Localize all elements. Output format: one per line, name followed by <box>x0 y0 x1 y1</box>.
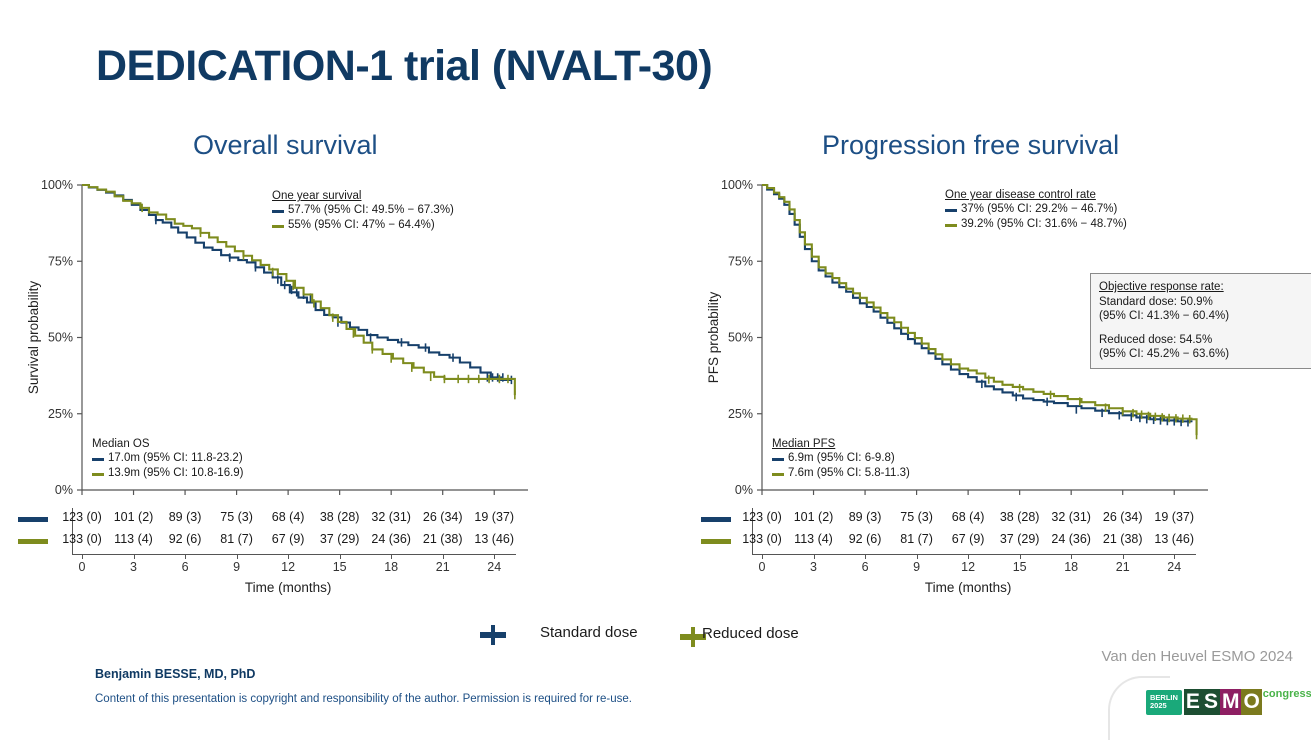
risk-table-cell: 92 (6) <box>849 532 882 546</box>
x-axis-tick-label: 6 <box>862 560 869 574</box>
x-axis-tick <box>968 555 969 559</box>
pfs-median-title: Median PFS <box>772 438 910 450</box>
risk-table-cell: 67 (9) <box>952 532 985 546</box>
esmo-letter-s: S <box>1202 689 1220 715</box>
x-axis-tick <box>1020 555 1021 559</box>
pfs-median-line-reduced: 7.6m (95% CI: 5.8-11.3) <box>772 466 910 481</box>
x-axis-tick-label: 18 <box>1064 560 1078 574</box>
legend-mark-standard-dose <box>480 632 506 638</box>
risk-table-cell: 68 (4) <box>272 510 305 524</box>
os-median-title: Median OS <box>92 438 244 450</box>
os-median-line-standard: 17.0m (95% CI: 11.8-23.2) <box>92 451 244 466</box>
x-axis-tick <box>917 555 918 559</box>
reduced-dose-dash-icon <box>772 473 784 476</box>
berlin-2025-badge: BERLIN 2025 <box>1146 690 1182 715</box>
risk-table-cell: 26 (34) <box>423 510 463 524</box>
risk-table-cell: 24 (36) <box>371 532 411 546</box>
x-axis-tick <box>237 555 238 559</box>
esmo-letter-o: O <box>1241 689 1261 715</box>
risk-table-cell: 81 (7) <box>900 532 933 546</box>
x-axis-tick <box>814 555 815 559</box>
risk-table-cell: 67 (9) <box>272 532 305 546</box>
svg-text:100%: 100% <box>721 178 753 192</box>
legend-label-reduced-dose: Reduced dose <box>702 625 799 642</box>
esmo-wordmark: E S M O <box>1184 689 1262 715</box>
svg-text:25%: 25% <box>48 407 73 421</box>
x-axis-tick-label: 15 <box>1013 560 1027 574</box>
svg-text:100%: 100% <box>41 178 73 192</box>
standard-dose-dash-icon <box>945 209 957 212</box>
x-axis-tick-label: 21 <box>436 560 450 574</box>
source-credit: Van den Heuvel ESMO 2024 <box>1101 648 1293 665</box>
slide-canvas: DEDICATION-1 trial (NVALT-30) Overall su… <box>0 0 1311 738</box>
pfs-dcr-annotation: One year disease control rate 37% (95% C… <box>945 189 1127 231</box>
risk-table-cell: 113 (4) <box>794 532 833 546</box>
risk-table-cell: 133 (0) <box>62 532 102 546</box>
page-title: DEDICATION-1 trial (NVALT-30) <box>96 42 712 91</box>
risk-table-cell: 89 (3) <box>849 510 882 524</box>
orr-spacer <box>1099 324 1311 333</box>
pfs-risk-table: 123 (0)101 (2)89 (3)75 (3)68 (4)38 (28)3… <box>753 510 1173 570</box>
svg-text:75%: 75% <box>48 254 73 268</box>
risk-table-cell: 37 (29) <box>1000 532 1040 546</box>
orr-standard-ci: (95% CI: 41.3% − 60.4%) <box>1099 309 1311 324</box>
x-axis-title: Time (months) <box>925 580 1012 595</box>
svg-text:75%: 75% <box>728 254 753 268</box>
x-axis-tick-label: 3 <box>130 560 137 574</box>
x-axis-tick <box>865 555 866 559</box>
pfs-annotation-line-standard: 37% (95% CI: 29.2% − 46.7%) <box>945 202 1127 217</box>
x-axis-tick-label: 21 <box>1116 560 1130 574</box>
x-axis-tick-label: 0 <box>759 560 766 574</box>
risk-table-cell: 13 (46) <box>474 532 514 546</box>
risk-table-cell: 101 (2) <box>114 510 154 524</box>
standard-dose-dash-icon <box>92 458 104 461</box>
risk-table-row: 133 (0)113 (4)92 (6)81 (7)67 (9)37 (29)2… <box>753 532 1173 552</box>
risk-table-bottom-axis <box>752 554 1196 555</box>
svg-text:PFS probability: PFS probability <box>706 291 721 383</box>
x-axis-tick <box>443 555 444 559</box>
svg-text:Survival probability: Survival probability <box>26 281 41 395</box>
pfs-median-annotation: Median PFS 6.9m (95% CI: 6-9.8) 7.6m (95… <box>772 438 910 480</box>
risk-table-cell: 113 (4) <box>114 532 153 546</box>
x-axis-tick <box>340 555 341 559</box>
x-axis-tick <box>1123 555 1124 559</box>
risk-table-row: 123 (0)101 (2)89 (3)75 (3)68 (4)38 (28)3… <box>70 510 500 530</box>
orr-title: Objective response rate: <box>1099 280 1311 295</box>
risk-row-color-key <box>18 517 48 522</box>
risk-table-cell: 75 (3) <box>900 510 933 524</box>
pfs-median-line-standard: 6.9m (95% CI: 6-9.8) <box>772 451 910 466</box>
risk-table-cell: 21 (38) <box>423 532 463 546</box>
os-panel-heading: Overall survival <box>193 130 378 161</box>
x-axis-tick <box>494 555 495 559</box>
x-axis-tick-label: 24 <box>1167 560 1181 574</box>
risk-table-cell: 24 (36) <box>1051 532 1091 546</box>
esmo-congress-logo: BERLIN 2025 E S M O congress <box>1146 688 1311 716</box>
svg-text:50%: 50% <box>728 331 753 345</box>
svg-text:50%: 50% <box>48 331 73 345</box>
os-annotation-line-standard: 57.7% (95% CI: 49.5% − 67.3%) <box>272 203 454 218</box>
risk-table-cell: 38 (28) <box>320 510 360 524</box>
orr-standard-label: Standard dose: 50.9% <box>1099 295 1311 310</box>
x-axis-tick <box>288 555 289 559</box>
os-risk-table: 123 (0)101 (2)89 (3)75 (3)68 (4)38 (28)3… <box>70 510 500 570</box>
svg-text:0%: 0% <box>735 483 753 497</box>
risk-table-cell: 123 (0) <box>742 510 782 524</box>
x-axis-title: Time (months) <box>245 580 332 595</box>
risk-table-cell: 26 (34) <box>1103 510 1143 524</box>
pfs-annotation-line-reduced: 39.2% (95% CI: 31.6% − 48.7%) <box>945 217 1127 232</box>
x-axis-tick <box>82 555 83 559</box>
risk-table-cell: 81 (7) <box>220 532 253 546</box>
risk-table-cell: 75 (3) <box>220 510 253 524</box>
x-axis-tick-label: 15 <box>333 560 347 574</box>
reduced-dose-dash-icon <box>272 225 284 228</box>
x-axis-tick-label: 18 <box>384 560 398 574</box>
risk-table-cell: 19 (37) <box>474 510 514 524</box>
risk-row-color-key <box>701 517 731 522</box>
x-axis-tick <box>762 555 763 559</box>
x-axis-tick <box>391 555 392 559</box>
risk-table-cell: 32 (31) <box>371 510 411 524</box>
x-axis-tick-label: 12 <box>961 560 975 574</box>
reduced-dose-dash-icon <box>92 473 104 476</box>
orr-reduced-label: Reduced dose: 54.5% <box>1099 333 1311 348</box>
author-name: Benjamin BESSE, MD, PhD <box>95 667 255 681</box>
risk-table-row: 123 (0)101 (2)89 (3)75 (3)68 (4)38 (28)3… <box>753 510 1173 530</box>
reduced-dose-dash-icon <box>945 224 957 227</box>
os-annotation-title: One year survival <box>272 190 454 202</box>
orr-reduced-ci: (95% CI: 45.2% − 63.6%) <box>1099 347 1311 362</box>
standard-dose-dash-icon <box>272 210 284 213</box>
risk-table-row: 133 (0)113 (4)92 (6)81 (7)67 (9)37 (29)2… <box>70 532 500 552</box>
x-axis-tick-label: 24 <box>487 560 501 574</box>
x-axis-tick-label: 12 <box>281 560 295 574</box>
x-axis-tick-label: 9 <box>913 560 920 574</box>
risk-table-cell: 89 (3) <box>169 510 202 524</box>
os-one-year-survival-annotation: One year survival 57.7% (95% CI: 49.5% −… <box>272 190 454 232</box>
x-axis-tick-label: 9 <box>233 560 240 574</box>
risk-table-cell: 21 (38) <box>1103 532 1143 546</box>
risk-table-cell: 37 (29) <box>320 532 360 546</box>
svg-text:0%: 0% <box>55 483 73 497</box>
risk-table-cell: 19 (37) <box>1154 510 1194 524</box>
os-annotation-line-reduced: 55% (95% CI: 47% − 64.4%) <box>272 218 454 233</box>
esmo-congress-word: congress <box>1263 688 1311 700</box>
objective-response-rate-box: Objective response rate: Standard dose: … <box>1090 273 1311 369</box>
risk-table-cell: 123 (0) <box>62 510 102 524</box>
risk-row-color-key <box>701 539 731 544</box>
os-median-line-reduced: 13.9m (95% CI: 10.8-16.9) <box>92 466 244 481</box>
risk-table-cell: 101 (2) <box>794 510 834 524</box>
risk-table-cell: 38 (28) <box>1000 510 1040 524</box>
berlin-line-2: 2025 <box>1150 702 1178 711</box>
chart-legend: Standard dose Reduced dose <box>470 618 870 654</box>
risk-row-color-key <box>18 539 48 544</box>
x-axis-tick <box>185 555 186 559</box>
os-median-annotation: Median OS 17.0m (95% CI: 11.8-23.2) 13.9… <box>92 438 244 480</box>
x-axis-tick <box>134 555 135 559</box>
standard-dose-dash-icon <box>772 458 784 461</box>
risk-table-bottom-axis <box>72 554 516 555</box>
x-axis-tick <box>1174 555 1175 559</box>
x-axis-tick <box>1071 555 1072 559</box>
risk-table-cell: 32 (31) <box>1051 510 1091 524</box>
risk-table-cell: 13 (46) <box>1154 532 1194 546</box>
pfs-annotation-title: One year disease control rate <box>945 189 1127 201</box>
esmo-letter-m: M <box>1220 689 1242 715</box>
pfs-panel-heading: Progression free survival <box>822 130 1119 161</box>
x-axis-tick-label: 6 <box>182 560 189 574</box>
risk-table-cell: 133 (0) <box>742 532 782 546</box>
legend-label-standard-dose: Standard dose <box>540 624 638 641</box>
svg-text:25%: 25% <box>728 407 753 421</box>
risk-table-cell: 92 (6) <box>169 532 202 546</box>
esmo-letter-e: E <box>1184 689 1202 715</box>
x-axis-tick-label: 3 <box>810 560 817 574</box>
copyright-note: Content of this presentation is copyrigh… <box>95 693 632 705</box>
x-axis-tick-label: 0 <box>79 560 86 574</box>
risk-table-cell: 68 (4) <box>952 510 985 524</box>
